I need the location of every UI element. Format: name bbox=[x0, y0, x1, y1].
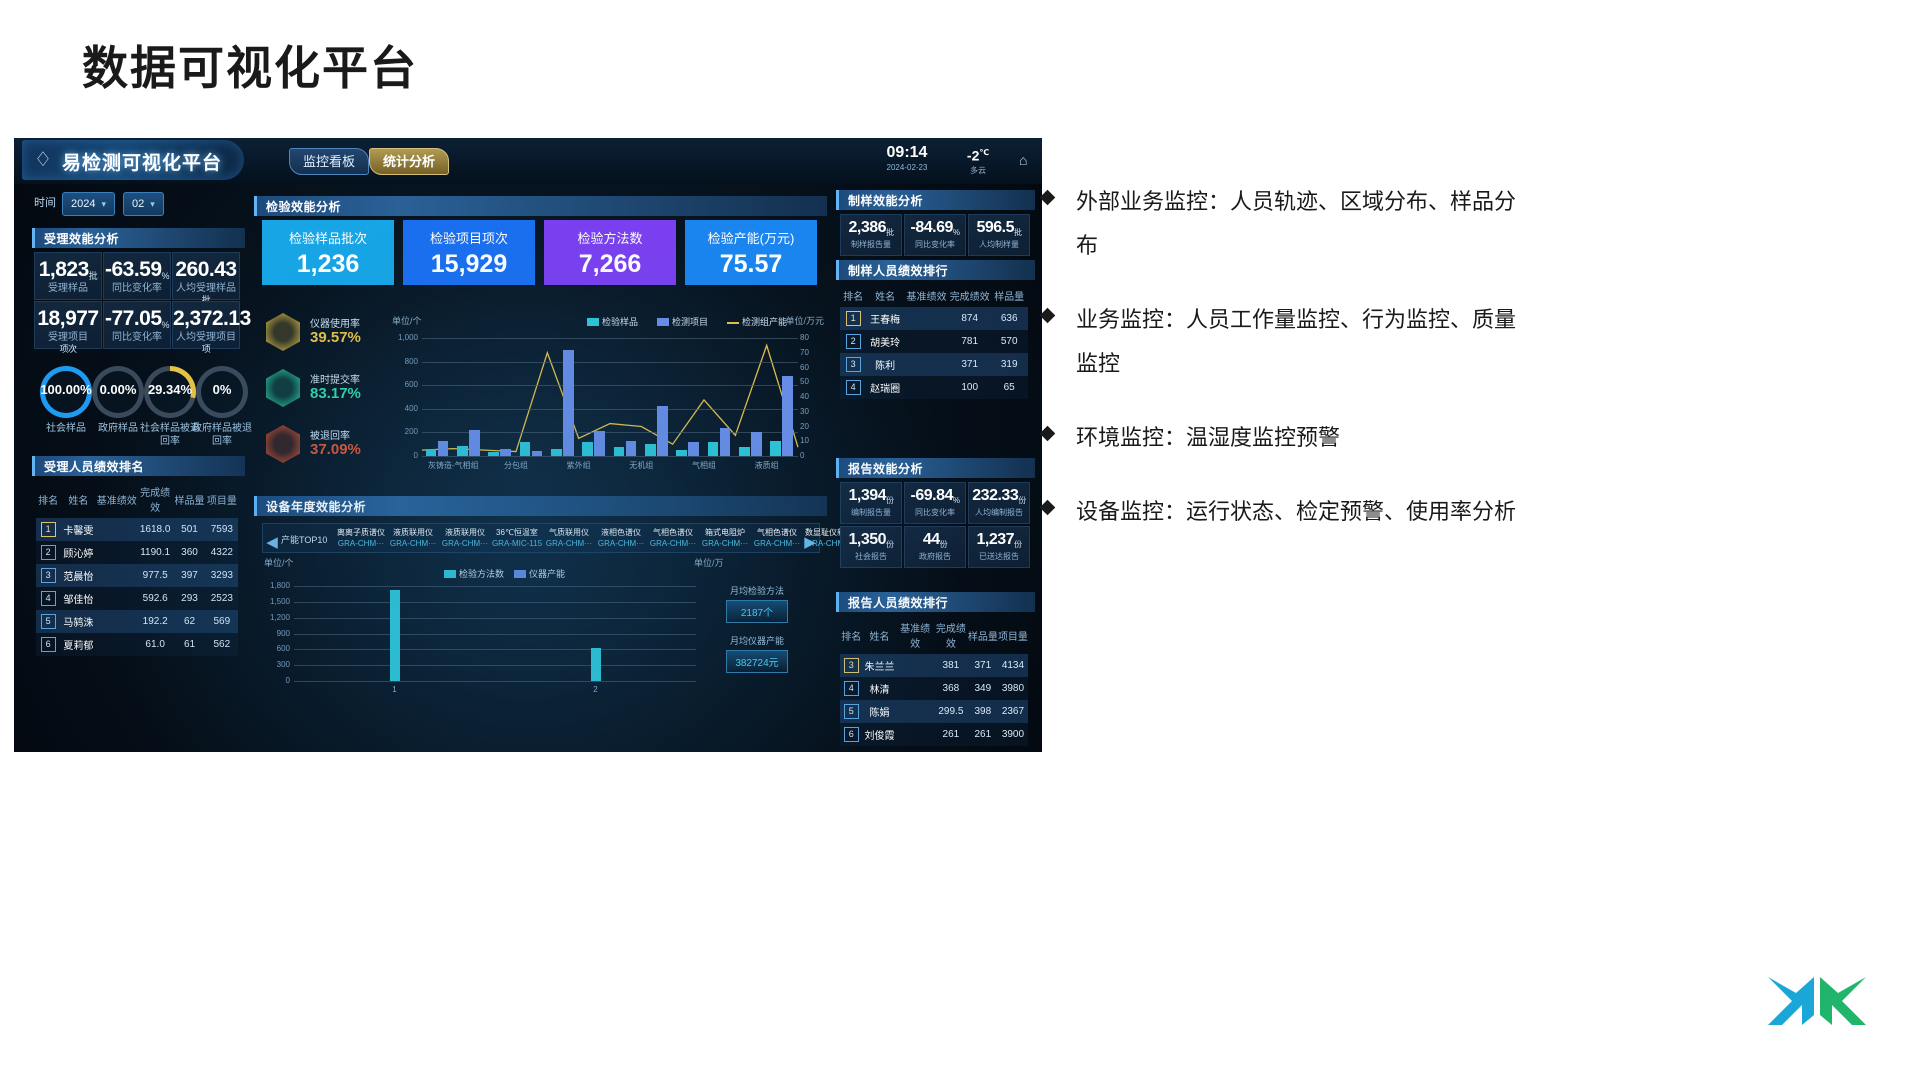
device-legend-label: 仪器产能 bbox=[529, 567, 565, 580]
table-row[interactable]: 6夏莉郁61.061562 bbox=[36, 633, 238, 656]
table-cell: 261 bbox=[934, 723, 968, 746]
table-cell: 293 bbox=[173, 587, 205, 610]
table-cell: 62 bbox=[173, 610, 205, 633]
device-gridline bbox=[294, 618, 696, 619]
gridline bbox=[422, 338, 798, 339]
table-cell: 赵瑞圈 bbox=[866, 376, 904, 399]
accept-kpi-caption: 人均受理样品 bbox=[173, 279, 239, 294]
table-cell: 3293 bbox=[206, 564, 238, 587]
diamond-bullet-icon bbox=[1040, 500, 1056, 516]
prep-kpi-caption: 同比变化率 bbox=[905, 239, 965, 250]
device-legend-swatch bbox=[444, 570, 456, 578]
report-kpi-card: -69.84%同比变化率 bbox=[904, 482, 966, 524]
chart-unit-right: 单位/万元 bbox=[785, 314, 824, 327]
table-cell: 3 bbox=[840, 353, 866, 376]
bar-sample bbox=[708, 442, 719, 456]
bar-sample bbox=[645, 444, 656, 456]
gridline bbox=[422, 385, 798, 386]
chart-xlabel: 分包组 bbox=[488, 460, 544, 471]
report-kpi-value: -69.84% bbox=[905, 487, 965, 505]
column-header: 基准绩效 bbox=[97, 480, 137, 518]
bar-item bbox=[782, 376, 793, 456]
gridline bbox=[422, 362, 798, 363]
device-xlabel: 2 bbox=[568, 685, 624, 694]
device-carousel[interactable]: ◀ ▶ 产能TOP10 离离子质谱仪GRA-CHM···液质联用仪GRA-CHM… bbox=[262, 523, 820, 553]
report-kpi-value: 1,237份 bbox=[969, 531, 1029, 549]
gridline bbox=[422, 456, 798, 457]
inspect-card-title: 检验产能(万元) bbox=[685, 228, 817, 247]
table-cell bbox=[896, 723, 934, 746]
table-cell: 顾沁婷 bbox=[60, 541, 96, 564]
report-kpi-caption: 编制报告量 bbox=[841, 507, 901, 518]
legend-label: 检测项目 bbox=[672, 315, 708, 328]
bar-item bbox=[657, 406, 668, 456]
prep-kpi-card: 596.5批人均制样量 bbox=[968, 214, 1030, 256]
table-row[interactable]: 4赵瑞圈10065 bbox=[840, 376, 1028, 399]
ytick-left: 0 bbox=[392, 451, 418, 460]
droplet-icon: ♢ bbox=[34, 148, 56, 172]
table-cell: 胡美玲 bbox=[866, 330, 904, 353]
table-row[interactable]: 5马鸫洙192.262569 bbox=[36, 610, 238, 633]
prep-rank-table[interactable]: 排名姓名基准绩效完成绩效样品量1王春梅8746362胡美玲7815703陈利37… bbox=[840, 284, 1028, 399]
hex-gauge-icon bbox=[266, 425, 300, 463]
hex-stat-label: 仪器使用率 bbox=[310, 315, 360, 330]
device-xlabel: 1 bbox=[367, 685, 423, 694]
bullet-list: 外部业务监控：人员轨迹、区域分布、样品分布业务监控：人员工作量监控、行为监控、质… bbox=[1040, 180, 1520, 564]
device-ytick: 1,800 bbox=[264, 581, 290, 590]
tab-statistics[interactable]: 统计分析 bbox=[369, 148, 449, 175]
app-logo: ♢ 易检测可视化平台 bbox=[22, 140, 244, 180]
table-cell: 王春梅 bbox=[866, 307, 904, 330]
device-item[interactable]: 36℃恒温室GRA-MIC-115 bbox=[491, 527, 543, 549]
bar-sample bbox=[551, 449, 562, 456]
section-prep-rank: 制样人员绩效排行 bbox=[836, 260, 1035, 280]
table-cell: 3 bbox=[36, 564, 60, 587]
legend-swatch bbox=[657, 318, 669, 326]
table-cell: 5 bbox=[36, 610, 60, 633]
table-cell: 4 bbox=[36, 587, 60, 610]
prep-kpi-value: -84.69% bbox=[905, 219, 965, 237]
month-select[interactable]: 02▾ bbox=[123, 192, 164, 216]
report-kpi-card: 1,350份社会报告 bbox=[840, 526, 902, 568]
report-rank-table[interactable]: 排名姓名基准绩效完成绩效样品量项目量3朱兰兰38137141344林清36834… bbox=[840, 616, 1028, 746]
accept-kpi-card: 1,823批受理样品 bbox=[34, 252, 102, 300]
bullet-item: 业务监控：人员工作量监控、行为监控、质量监控 bbox=[1040, 298, 1520, 386]
device-item[interactable]: 液质联用仪GRA-CHM··· bbox=[387, 527, 439, 549]
column-header: 样品量 bbox=[990, 284, 1028, 307]
weather-desc: 多云 bbox=[948, 165, 1008, 177]
table-cell: 2367 bbox=[998, 700, 1028, 723]
table-cell: 范晨怡 bbox=[60, 564, 96, 587]
column-header: 完成绩效 bbox=[137, 480, 173, 518]
table-cell: 562 bbox=[206, 633, 238, 656]
prep-kpi-value: 596.5批 bbox=[969, 219, 1029, 237]
prep-kpi-card: -84.69%同比变化率 bbox=[904, 214, 966, 256]
accept-kpi-caption: 人均受理项目 bbox=[173, 328, 239, 343]
column-header: 姓名 bbox=[866, 284, 904, 307]
column-header: 项目量 bbox=[206, 480, 238, 518]
hex-stat-label: 被退回率 bbox=[310, 427, 350, 442]
ytick-left: 200 bbox=[392, 427, 418, 436]
table-cell: 977.5 bbox=[137, 564, 173, 587]
table-cell bbox=[896, 654, 934, 677]
inspect-card-value: 15,929 bbox=[403, 250, 535, 279]
bullet-item: 环境监控：温湿度监控预警 bbox=[1040, 416, 1520, 460]
bar-sample bbox=[614, 447, 625, 456]
diamond-bullet-icon bbox=[1040, 426, 1056, 442]
table-row[interactable]: 4林清3683493980 bbox=[840, 677, 1028, 700]
prep-kpi-caption: 制样报告量 bbox=[841, 239, 901, 250]
accept-kpi-card: 18,977项次受理项目 bbox=[34, 301, 102, 349]
bar-item bbox=[563, 350, 574, 456]
column-header: 完成绩效 bbox=[934, 616, 968, 654]
table-cell: 360 bbox=[173, 541, 205, 564]
device-callout: 月均仪器产能382724元 bbox=[726, 634, 788, 673]
chevron-down-icon: ▾ bbox=[101, 199, 106, 209]
table-cell: 592.6 bbox=[137, 587, 173, 610]
report-kpi-caption: 已送达报告 bbox=[969, 551, 1029, 562]
report-kpi-caption: 社会报告 bbox=[841, 551, 901, 562]
device-top-label: 产能TOP10 bbox=[281, 533, 327, 546]
column-header: 排名 bbox=[840, 284, 866, 307]
table-cell: 398 bbox=[968, 700, 998, 723]
accept-ring-label: 政府样品被退回率 bbox=[191, 422, 253, 448]
device-item[interactable]: 液相色谱仪GRA-CHM··· bbox=[595, 527, 647, 549]
column-header: 项目量 bbox=[998, 616, 1028, 654]
time-filter: 时间 2024▾ 02▾ bbox=[34, 192, 172, 214]
table-cell bbox=[97, 564, 137, 587]
bar-sample bbox=[676, 450, 687, 456]
device-ytick: 1,200 bbox=[264, 613, 290, 622]
bar-sample bbox=[488, 452, 499, 456]
weather-unit: ℃ bbox=[979, 148, 989, 157]
ytick-right: 40 bbox=[800, 392, 826, 401]
device-unit-right: 单位/万 bbox=[694, 556, 724, 569]
legend-label: 检验样品 bbox=[602, 315, 638, 328]
device-bar bbox=[591, 648, 601, 681]
inspect-card-title: 检验方法数 bbox=[544, 228, 676, 247]
legend-swatch bbox=[727, 322, 739, 324]
hex-stat-label: 准时提交率 bbox=[310, 371, 360, 386]
table-cell: 刘俊霞 bbox=[863, 723, 897, 746]
bullet-item: 设备监控：运行状态、检定预警、使用率分析 bbox=[1040, 490, 1520, 534]
inspect-card-value: 75.57 bbox=[685, 250, 817, 279]
device-ytick: 600 bbox=[264, 644, 290, 653]
accept-kpi-card: -63.59%同比变化率 bbox=[103, 252, 171, 300]
table-row[interactable]: 2胡美玲781570 bbox=[840, 330, 1028, 353]
inspect-card-title: 检验样品批次 bbox=[262, 228, 394, 247]
table-cell: 1 bbox=[840, 307, 866, 330]
hex-gauge-icon bbox=[266, 313, 300, 351]
table-cell: 邹佳怡 bbox=[60, 587, 96, 610]
table-cell: 3980 bbox=[998, 677, 1028, 700]
time-filter-label: 时间 bbox=[34, 192, 56, 214]
bar-sample bbox=[520, 442, 531, 456]
table-cell: 299.5 bbox=[934, 700, 968, 723]
chart-xlabel: 气相组 bbox=[676, 460, 732, 471]
device-gridline bbox=[294, 602, 696, 603]
device-gridline bbox=[294, 586, 696, 587]
legend-swatch bbox=[587, 318, 599, 326]
table-cell: 7593 bbox=[206, 518, 238, 541]
section-device-efficiency: 设备年度效能分析 bbox=[254, 496, 827, 516]
table-cell: 61 bbox=[173, 633, 205, 656]
table-cell: 319 bbox=[990, 353, 1028, 376]
bar-item bbox=[500, 449, 511, 456]
table-row[interactable]: 3陈利371319 bbox=[840, 353, 1028, 376]
device-unit-left: 单位/个 bbox=[264, 556, 294, 569]
accept-ring-value: 0% bbox=[188, 382, 256, 397]
section-report-rank: 报告人员绩效排行 bbox=[836, 592, 1035, 612]
table-cell bbox=[97, 518, 137, 541]
device-item[interactable]: 气质联用仪GRA-CHM··· bbox=[543, 527, 595, 549]
ytick-right: 60 bbox=[800, 363, 826, 372]
legend-label: 检测组产能 bbox=[742, 315, 787, 328]
table-cell: 61.0 bbox=[137, 633, 173, 656]
table-cell: 261 bbox=[968, 723, 998, 746]
column-header: 基准绩效 bbox=[896, 616, 934, 654]
table-cell: 636 bbox=[990, 307, 1028, 330]
device-gridline bbox=[294, 649, 696, 650]
bullet-text: 外部业务监控：人员轨迹、区域分布、样品分布 bbox=[1076, 189, 1516, 258]
table-row[interactable]: 2顾沁婷1190.13604322 bbox=[36, 541, 238, 564]
accept-ring: 0% bbox=[196, 366, 248, 418]
inspect-combo-chart: 单位/个 单位/万元 检验样品检测项目检测组产能1,00080060040020… bbox=[392, 316, 824, 481]
bar-item bbox=[688, 442, 699, 456]
diamond-bullet-icon bbox=[1040, 190, 1056, 206]
ytick-right: 10 bbox=[800, 436, 826, 445]
accept-kpi-card: 2,372.13项人均受理项目 bbox=[172, 301, 240, 349]
device-item[interactable]: 气相色谱仪GRA-CHM··· bbox=[751, 527, 803, 549]
table-cell: 4 bbox=[840, 677, 863, 700]
table-row[interactable]: 3范晨怡977.53973293 bbox=[36, 564, 238, 587]
table-cell: 3900 bbox=[998, 723, 1028, 746]
table-cell: 4134 bbox=[998, 654, 1028, 677]
table-cell: 陈娟 bbox=[863, 700, 897, 723]
report-kpi-caption: 政府报告 bbox=[905, 551, 965, 562]
year-select[interactable]: 2024▾ bbox=[62, 192, 115, 216]
bar-sample bbox=[457, 446, 468, 456]
table-row[interactable]: 1王春梅874636 bbox=[840, 307, 1028, 330]
column-header: 样品量 bbox=[173, 480, 205, 518]
report-kpi-caption: 人均编制报告 bbox=[969, 507, 1029, 518]
report-kpi-caption: 同比变化率 bbox=[905, 507, 965, 518]
bar-sample bbox=[582, 442, 593, 456]
table-row[interactable]: 4邹佳怡592.62932523 bbox=[36, 587, 238, 610]
table-cell bbox=[896, 677, 934, 700]
table-cell: 100 bbox=[949, 376, 990, 399]
ytick-left: 400 bbox=[392, 404, 418, 413]
bullet-text: 环境监控：温湿度监控预警 bbox=[1076, 425, 1340, 450]
inspect-card[interactable]: 检验产能(万元)75.57 bbox=[685, 220, 817, 285]
clock-date: 2024-02-23 bbox=[872, 162, 942, 174]
bar-sample bbox=[770, 441, 781, 456]
inspect-card[interactable]: 检验项目项次15,929 bbox=[403, 220, 535, 285]
chart-xlabel: 紫外组 bbox=[551, 460, 607, 471]
table-cell: 349 bbox=[968, 677, 998, 700]
device-gridline bbox=[294, 681, 696, 682]
ytick-right: 50 bbox=[800, 377, 826, 386]
table-cell: 林清 bbox=[863, 677, 897, 700]
chart-unit-left: 单位/个 bbox=[392, 314, 422, 327]
accept-kpi-card: -77.05%同比变化率 bbox=[103, 301, 171, 349]
table-cell: 陈利 bbox=[866, 353, 904, 376]
table-cell: 2 bbox=[36, 541, 60, 564]
table-cell: 卡馨雯 bbox=[60, 518, 96, 541]
device-ytick: 0 bbox=[264, 676, 290, 685]
table-cell: 371 bbox=[968, 654, 998, 677]
device-callout: 月均检验方法2187个 bbox=[726, 584, 788, 623]
table-row[interactable]: 1卡馨雯1618.05017593 bbox=[36, 518, 238, 541]
device-item[interactable]: 液质联用仪GRA-CHM··· bbox=[439, 527, 491, 549]
table-cell: 4322 bbox=[206, 541, 238, 564]
device-ytick: 300 bbox=[264, 660, 290, 669]
column-header: 排名 bbox=[840, 616, 863, 654]
device-legend-swatch bbox=[514, 570, 526, 578]
tab-monitor-board[interactable]: 监控看板 bbox=[289, 148, 369, 175]
table-cell: 874 bbox=[949, 307, 990, 330]
report-kpi-value: 1,350份 bbox=[841, 531, 901, 549]
ytick-right: 80 bbox=[800, 333, 826, 342]
device-bar bbox=[390, 590, 400, 681]
home-icon[interactable]: ⌂ bbox=[1019, 152, 1035, 168]
table-cell: 381 bbox=[934, 654, 968, 677]
ytick-right: 70 bbox=[800, 348, 826, 357]
bar-item bbox=[626, 441, 637, 456]
bullet-text: 设备监控：运行状态、检定预警、使用率分析 bbox=[1076, 499, 1516, 524]
hex-stat-value: 37.09% bbox=[310, 441, 361, 458]
bar-item bbox=[594, 431, 605, 456]
gridline bbox=[422, 409, 798, 410]
inspect-card-value: 7,266 bbox=[544, 250, 676, 279]
table-cell: 368 bbox=[934, 677, 968, 700]
device-gridline bbox=[294, 665, 696, 666]
device-legend-label: 检验方法数 bbox=[459, 567, 504, 580]
column-header: 姓名 bbox=[60, 480, 96, 518]
accept-kpi-caption: 同比变化率 bbox=[104, 328, 170, 343]
weather-temp: -2 bbox=[967, 148, 979, 164]
inspect-card-title: 检验项目项次 bbox=[403, 228, 535, 247]
prep-kpi-caption: 人均制样量 bbox=[969, 239, 1029, 250]
bar-item bbox=[720, 428, 731, 456]
table-row[interactable]: 6刘俊霞2612613900 bbox=[840, 723, 1028, 746]
report-kpi-card: 232.33份人均编制报告 bbox=[968, 482, 1030, 524]
table-cell: 1618.0 bbox=[137, 518, 173, 541]
table-cell: 192.2 bbox=[137, 610, 173, 633]
table-cell: 夏莉郁 bbox=[60, 633, 96, 656]
table-cell bbox=[904, 376, 949, 399]
table-cell: 4 bbox=[840, 376, 866, 399]
table-cell: 65 bbox=[990, 376, 1028, 399]
device-item[interactable]: 离离子质谱仪GRA-CHM··· bbox=[335, 527, 387, 549]
app-title: 易检测可视化平台 bbox=[62, 148, 222, 175]
chevron-down-icon: ▾ bbox=[150, 199, 155, 209]
report-kpi-card: 1,237份已送达报告 bbox=[968, 526, 1030, 568]
bullet-item: 外部业务监控：人员轨迹、区域分布、样品分布 bbox=[1040, 180, 1520, 268]
table-cell: 2 bbox=[840, 330, 866, 353]
column-header: 姓名 bbox=[863, 616, 897, 654]
column-header: 排名 bbox=[36, 480, 60, 518]
section-accept-efficiency: 受理效能分析 bbox=[32, 228, 245, 248]
table-cell bbox=[896, 700, 934, 723]
table-cell: 371 bbox=[949, 353, 990, 376]
inspect-card-value: 1,236 bbox=[262, 250, 394, 279]
bar-item bbox=[532, 451, 543, 456]
prep-kpi-card: 2,386批制样报告量 bbox=[840, 214, 902, 256]
brand-logo-icon bbox=[1762, 971, 1872, 1031]
accept-rank-table[interactable]: 排名姓名基准绩效完成绩效样品量项目量1卡馨雯1618.050175932顾沁婷1… bbox=[36, 480, 238, 656]
table-cell bbox=[97, 587, 137, 610]
clock: 09:14 2024-02-23 bbox=[872, 144, 942, 174]
table-row[interactable]: 5陈娟299.53982367 bbox=[840, 700, 1028, 723]
diamond-bullet-icon bbox=[1040, 308, 1056, 324]
prep-kpi-value: 2,386批 bbox=[841, 219, 901, 237]
ytick-right: 0 bbox=[800, 451, 826, 460]
table-cell: 569 bbox=[206, 610, 238, 633]
device-ytick: 1,500 bbox=[264, 597, 290, 606]
hex-stat-value: 39.57% bbox=[310, 329, 361, 346]
chart-xlabel: 无机组 bbox=[613, 460, 669, 471]
bullet-text: 业务监控：人员工作量监控、行为监控、质量监控 bbox=[1076, 307, 1516, 376]
inspect-card[interactable]: 检验方法数7,266 bbox=[544, 220, 676, 285]
accept-kpi-caption: 受理样品 bbox=[35, 279, 101, 294]
report-kpi-value: 232.33份 bbox=[969, 487, 1029, 505]
hex-gauge-icon bbox=[266, 369, 300, 407]
bar-sample bbox=[426, 449, 437, 456]
table-cell bbox=[904, 353, 949, 376]
table-row[interactable]: 3朱兰兰3813714134 bbox=[840, 654, 1028, 677]
table-cell: 3 bbox=[840, 654, 863, 677]
carousel-prev-icon[interactable]: ◀ bbox=[265, 532, 279, 554]
bar-item bbox=[469, 430, 480, 456]
table-cell: 397 bbox=[173, 564, 205, 587]
table-cell bbox=[97, 541, 137, 564]
table-cell: 501 bbox=[173, 518, 205, 541]
device-ytick: 900 bbox=[264, 629, 290, 638]
section-prep-efficiency: 制样效能分析 bbox=[836, 190, 1035, 210]
table-cell bbox=[904, 330, 949, 353]
inspect-card[interactable]: 检验样品批次1,236 bbox=[262, 220, 394, 285]
section-inspect-efficiency: 检验效能分析 bbox=[254, 196, 827, 216]
page-title: 数据可视化平台 bbox=[82, 32, 418, 98]
bar-item bbox=[438, 441, 449, 456]
accept-kpi-caption: 受理项目 bbox=[35, 328, 101, 343]
ytick-right: 30 bbox=[800, 407, 826, 416]
report-kpi-card: 44份政府报告 bbox=[904, 526, 966, 568]
bar-item bbox=[751, 432, 762, 456]
table-cell: 570 bbox=[990, 330, 1028, 353]
accept-kpi-caption: 同比变化率 bbox=[104, 279, 170, 294]
table-cell: 6 bbox=[840, 723, 863, 746]
ytick-left: 800 bbox=[392, 357, 418, 366]
device-item[interactable]: 气相色谱仪GRA-CHM··· bbox=[647, 527, 699, 549]
table-cell: 1190.1 bbox=[137, 541, 173, 564]
report-kpi-value: 44份 bbox=[905, 531, 965, 549]
weather: -2℃ 多云 bbox=[948, 144, 1008, 177]
table-cell: 6 bbox=[36, 633, 60, 656]
column-header: 基准绩效 bbox=[904, 284, 949, 307]
section-report-efficiency: 报告效能分析 bbox=[836, 458, 1035, 478]
table-cell bbox=[904, 307, 949, 330]
dashboard-topbar: ♢ 易检测可视化平台 监控看板 统计分析 09:14 2024-02-23 -2… bbox=[14, 138, 1042, 184]
device-gridline bbox=[294, 634, 696, 635]
clock-time: 09:14 bbox=[872, 144, 942, 162]
table-cell: 5 bbox=[840, 700, 863, 723]
table-cell: 2523 bbox=[206, 587, 238, 610]
bar-sample bbox=[739, 447, 750, 456]
device-item[interactable]: 箱式电阻炉GRA-CHM··· bbox=[699, 527, 751, 549]
ytick-right: 20 bbox=[800, 422, 826, 431]
